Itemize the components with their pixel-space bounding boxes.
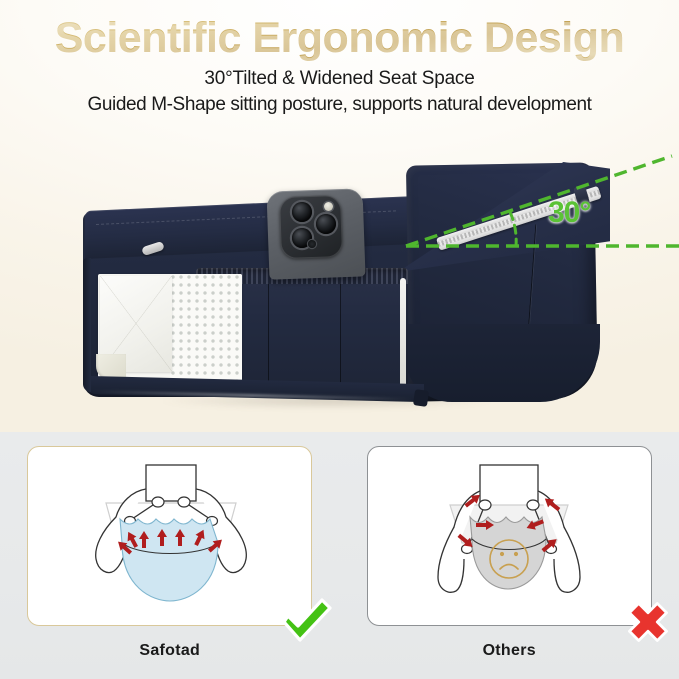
phone-flash-icon [324,202,333,211]
comparison-panel-good: Safotad [27,446,312,626]
strap-nub [413,389,429,407]
angle-value-label: 30° [548,196,590,230]
femur-head-left [479,500,491,510]
phone-lidar-sensor [308,240,316,248]
belt-left-edge [83,258,91,392]
subtitle-line-1: 30°Tilted & Widened Seat Space [0,68,679,90]
subtitle-line-2: Guided M-Shape sitting posture, supports… [0,94,679,116]
baby-torso [146,465,196,501]
mesh-perforations [170,274,242,392]
diagram-narrow-seat-incorrect [368,447,653,627]
pocket-divider-seam [340,284,341,390]
hip-seat-bottom-curve [404,324,600,402]
panel-card-good [27,446,312,626]
comparison-panel-bad: Others [367,446,652,626]
product-photo: 30° [0,128,679,432]
phone-camera-lens [292,202,312,222]
diagram-m-shape-correct [28,447,313,627]
femur-head-left [152,497,164,507]
panel-card-bad [367,446,652,626]
femur-head-right [527,500,539,510]
hero-section: Scientific Ergonomic Design 30°Tilted & … [0,0,679,432]
green-check-badge [278,594,334,646]
panel-label-good: Safotad [27,642,312,660]
femur-head-right [178,497,190,507]
pocket-white-trim [400,278,406,388]
panel-label-bad: Others [367,642,652,660]
phone-camera-lens [316,214,336,234]
red-cross-badge [620,596,676,648]
comparison-section: Safotad [0,432,679,679]
pocket-divider-seam [268,284,269,390]
comparison-row: Safotad [0,446,679,634]
page-title: Scientific Ergonomic Design [0,16,679,61]
